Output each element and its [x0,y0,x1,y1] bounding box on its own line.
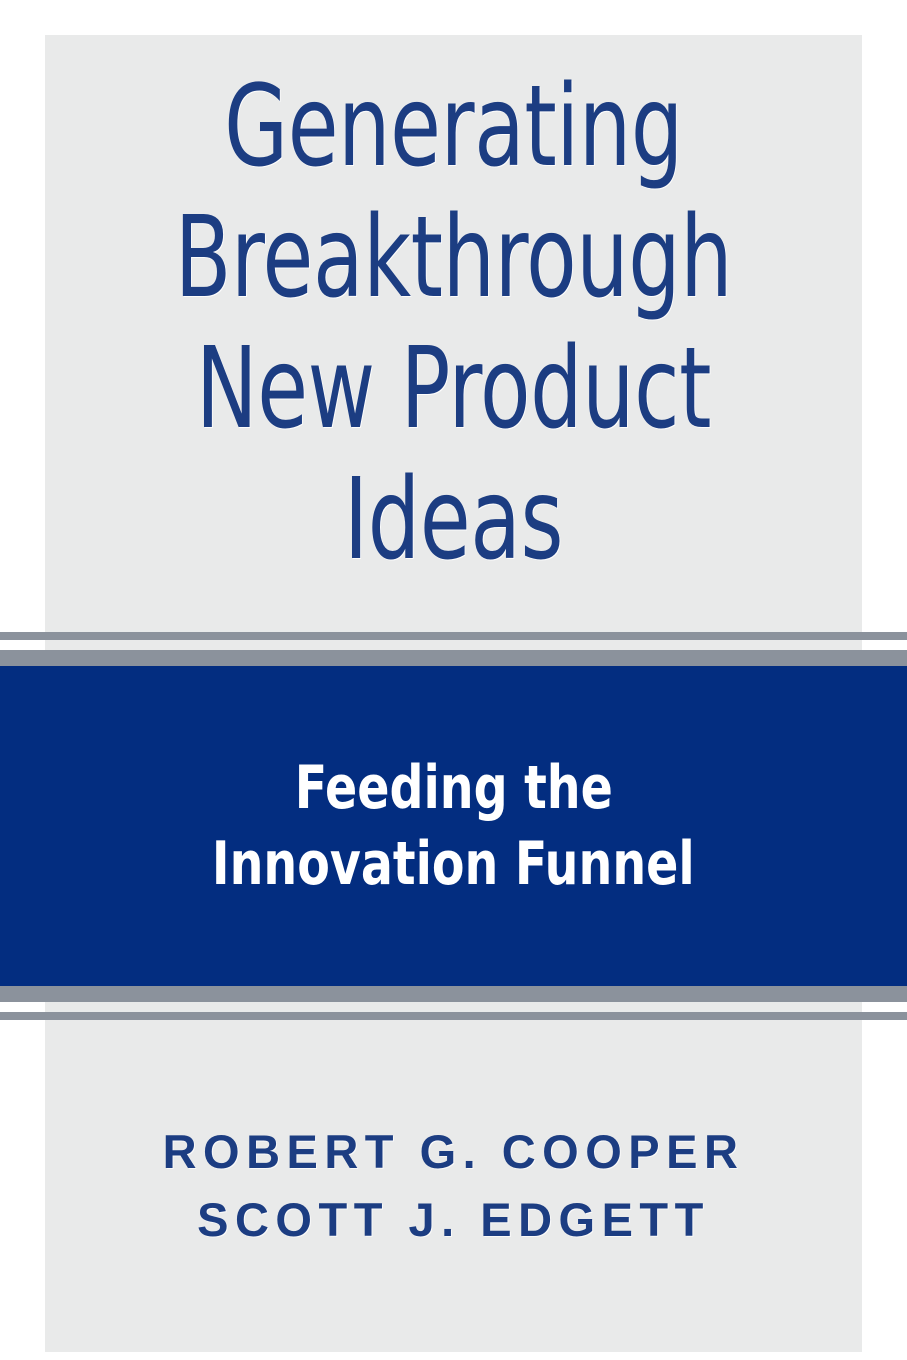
divider-rule-top-inner [0,650,907,666]
book-cover: Generating Breakthrough New Product Idea… [0,0,907,1360]
title-line-2: Breakthrough [119,193,789,324]
author-name-primary: ROBERT G. COOPER [45,1118,862,1186]
book-title: Generating Breakthrough New Product Idea… [45,62,862,586]
divider-gap-bottom [45,1002,862,1012]
subtitle-line-2: Innovation Funnel [212,826,695,902]
divider-rule-bottom-inner [0,986,907,1002]
divider-gap-top [45,640,862,650]
subtitle-band: Feeding the Innovation Funnel [0,666,907,986]
divider-rule-bottom-outer [0,1012,907,1020]
title-line-1: Generating [119,62,789,193]
title-line-3: New Product [119,324,789,455]
author-block: ROBERT G. COOPER SCOTT J. EDGETT [45,1118,862,1254]
subtitle-line-1: Feeding the [294,750,612,826]
title-line-4: Ideas [119,455,789,586]
author-name-secondary: SCOTT J. EDGETT [45,1186,862,1254]
divider-rule-top-outer [0,632,907,640]
